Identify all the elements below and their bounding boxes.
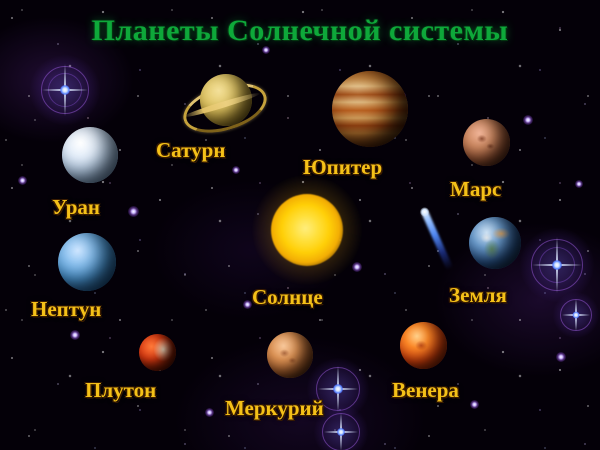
halo-star	[232, 166, 240, 174]
halo-star	[128, 206, 139, 217]
halo-star	[18, 176, 27, 185]
halo-star	[70, 330, 80, 340]
label-venus: Венера	[392, 378, 459, 403]
halo-star	[470, 400, 479, 409]
solar-system-slide: Планеты Солнечной системы	[0, 0, 600, 450]
page-title: Планеты Солнечной системы	[0, 14, 600, 48]
planet-uranus[interactable]	[62, 127, 118, 183]
label-neptune: Нептун	[31, 297, 101, 322]
label-mercury: Меркурий	[225, 396, 324, 421]
halo-star	[352, 262, 362, 272]
planet-saturn[interactable]	[182, 70, 268, 142]
planet-jupiter[interactable]	[332, 71, 408, 147]
label-jupiter: Юпитер	[303, 155, 382, 180]
label-saturn: Сатурн	[156, 138, 225, 163]
halo-star	[205, 408, 214, 417]
planet-venus[interactable]	[400, 322, 447, 369]
halo-star	[556, 352, 566, 362]
halo-star	[575, 180, 583, 188]
halo-star	[523, 115, 533, 125]
star-sun[interactable]	[271, 194, 343, 266]
planet-pluto[interactable]	[139, 334, 176, 371]
label-earth: Земля	[449, 283, 507, 308]
label-pluto: Плутон	[85, 378, 156, 403]
planet-mercury[interactable]	[267, 332, 313, 378]
label-sun: Солнце	[252, 285, 323, 310]
planet-neptune[interactable]	[58, 233, 116, 291]
planet-mars[interactable]	[463, 119, 510, 166]
halo-star	[243, 300, 252, 309]
label-uranus: Уран	[52, 195, 100, 220]
planet-earth[interactable]	[469, 217, 521, 269]
label-mars: Марс	[450, 177, 501, 202]
